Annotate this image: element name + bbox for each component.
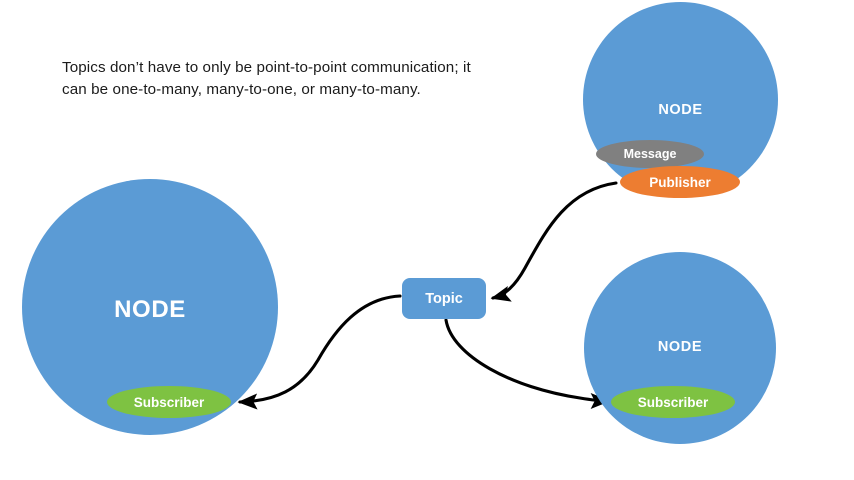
message-pill[interactable]: Message [596, 140, 704, 168]
node-top-right-label: NODE [583, 102, 778, 118]
message-label: Message [624, 147, 677, 161]
publisher-pill[interactable]: Publisher [620, 166, 740, 198]
topic-label: Topic [425, 291, 463, 307]
subscriber-left-label: Subscriber [134, 395, 205, 410]
subscriber-left-pill[interactable]: Subscriber [107, 386, 231, 418]
slide-canvas: Topics don’t have to only be point-to-po… [0, 0, 854, 480]
node-left-label: NODE [22, 296, 278, 324]
connector-publisher-to-topic [493, 183, 616, 298]
subscriber-right-pill[interactable]: Subscriber [611, 386, 735, 418]
topic-box[interactable]: Topic [402, 278, 486, 319]
subscriber-right-label: Subscriber [638, 395, 709, 410]
caption-text: Topics don’t have to only be point-to-po… [62, 57, 482, 101]
connector-topic-to-subscriber-right [446, 320, 608, 401]
publisher-label: Publisher [649, 175, 711, 190]
node-bottom-right-label: NODE [584, 339, 776, 355]
